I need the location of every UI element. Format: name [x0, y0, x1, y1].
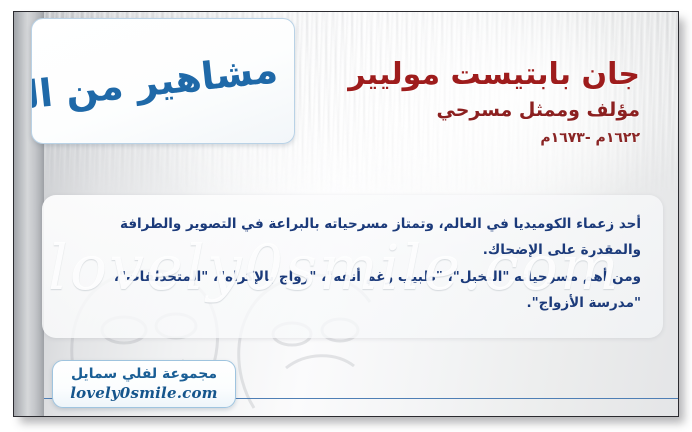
biography-paragraph-1: أحد زعماء الكوميديا في العالم، وتمتاز مس…: [64, 211, 641, 264]
life-dates: ١٦٢٢م -١٦٧٣م: [348, 131, 640, 146]
poster-canvas: مشاهير من التاريخ جان بابتيست موليير مؤل…: [0, 0, 692, 432]
footer-group-name: مجموعة لفلي سمايل: [53, 366, 235, 384]
headline-block: جان بابتيست موليير مؤلف وممثل مسرحي ١٦٢٢…: [348, 58, 640, 146]
biography-card: lovely0smile.com أحد زعماء الكوميديا في …: [42, 195, 663, 338]
page-subtitle: مؤلف وممثل مسرحي: [348, 100, 640, 121]
series-logo-text: مشاهير من التاريخ: [47, 50, 280, 112]
footer-site-url[interactable]: lovely0smile.com: [53, 384, 235, 403]
biography-paragraph-2: ومن أهم مسرحياته "البخيل"، "طبيب رغم أنف…: [64, 264, 641, 317]
page-title: جان بابتيست موليير: [348, 58, 640, 91]
series-logo-plate: مشاهير من التاريخ: [31, 18, 295, 144]
footer-brand-plate[interactable]: مجموعة لفلي سمايل lovely0smile.com: [52, 360, 236, 408]
poster-frame: مشاهير من التاريخ جان بابتيست موليير مؤل…: [13, 11, 679, 417]
biography-text: أحد زعماء الكوميديا في العالم، وتمتاز مس…: [42, 195, 663, 316]
